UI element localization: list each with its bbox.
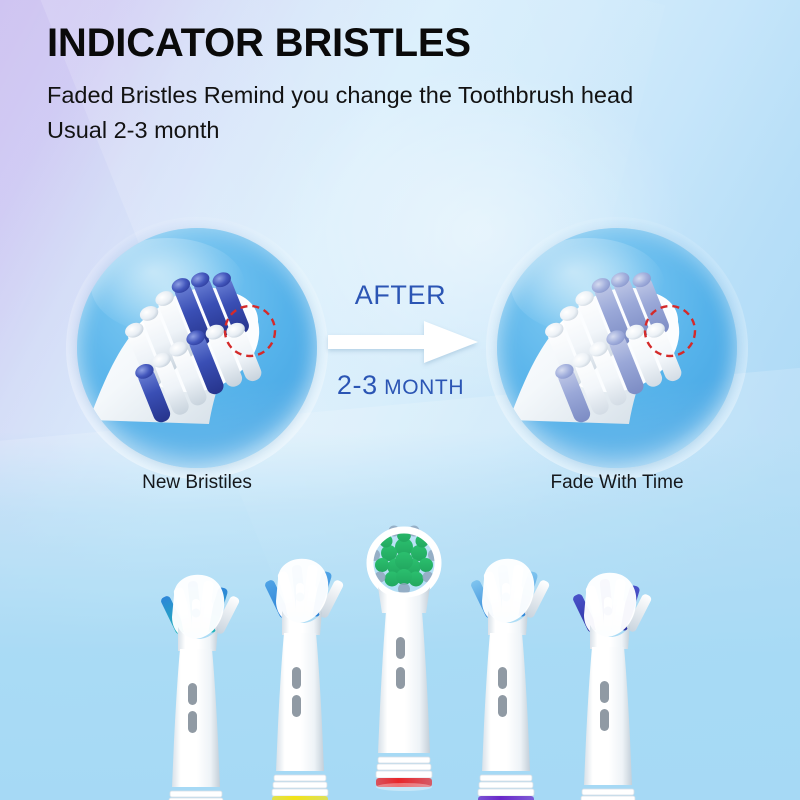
- header-block: INDICATOR BRISTLES Faded Bristles Remind…: [47, 22, 757, 147]
- brush-head-faded-illustration: [497, 228, 737, 468]
- brush-head-cross-action-teal[interactable]: [148, 551, 244, 800]
- brush-head-graphic: [252, 535, 348, 800]
- color-ring: [272, 796, 328, 800]
- caption-new-bristles: New Bristiles: [47, 472, 347, 494]
- arrow-label-after: AFTER: [318, 280, 483, 311]
- brush-head-graphic: [560, 549, 656, 800]
- brush-head-cross-action-green[interactable]: [560, 549, 656, 800]
- brush-head-graphic: [356, 517, 452, 797]
- brush-head-precision-clean-red[interactable]: [356, 517, 452, 797]
- brush-head-cross-action-purple[interactable]: [458, 535, 554, 800]
- disc-right: [497, 228, 737, 468]
- brush-head-graphic: [458, 535, 554, 800]
- panel-faded-bristles: [497, 228, 737, 468]
- right-arrow-icon: [328, 320, 478, 364]
- caption-fade-with-time: Fade With Time: [467, 472, 767, 494]
- brush-head-new-illustration: [77, 228, 317, 468]
- brush-head-graphic: [148, 551, 244, 800]
- page-title: INDICATOR BRISTLES: [47, 22, 757, 65]
- duration-unit: MONTH: [384, 376, 464, 399]
- disc-left: [77, 228, 317, 468]
- product-row: [0, 505, 800, 800]
- arrow-block: AFTER 2-3 MONTH: [318, 222, 483, 382]
- panel-new-bristles: [77, 228, 317, 468]
- subtitle-line-2: Usual 2-3 month: [47, 114, 757, 147]
- arrow-label-duration: 2-3 MONTH: [318, 370, 483, 401]
- duration-value: 2-3: [337, 370, 378, 400]
- brush-head-cross-action-yellow[interactable]: [252, 535, 348, 800]
- color-ring: [478, 796, 534, 800]
- comparison-section: New Bristiles AFTER 2-3 MONTH: [0, 222, 800, 507]
- subtitle-line-1: Faded Bristles Remind you change the Too…: [47, 79, 757, 112]
- infographic-root: INDICATOR BRISTLES Faded Bristles Remind…: [0, 0, 800, 800]
